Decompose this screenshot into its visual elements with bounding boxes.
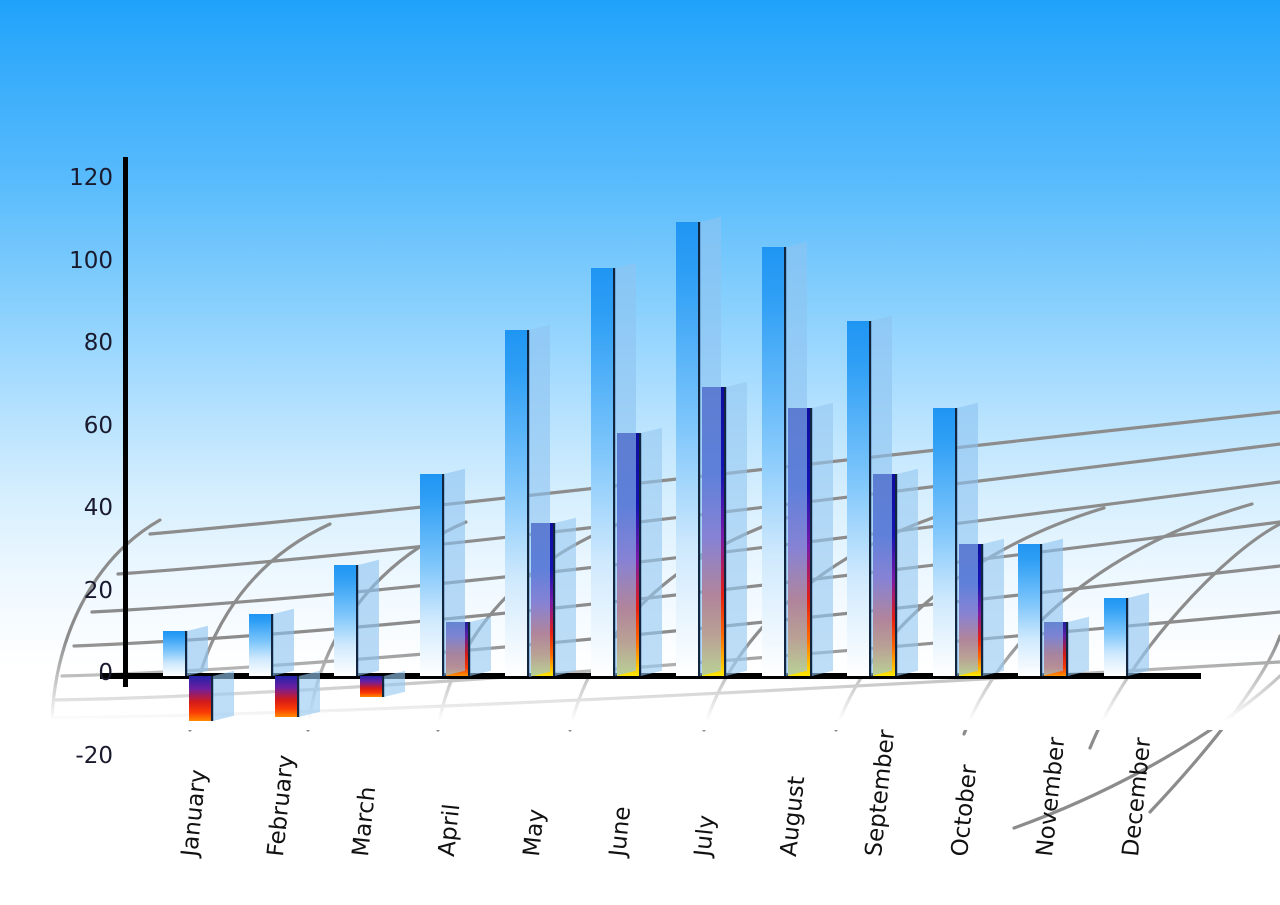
bar-series2[interactable] [360, 676, 384, 697]
x-category-label: July [690, 814, 720, 858]
bar-face [334, 565, 358, 676]
bar-depth-shadow [983, 539, 1004, 676]
bar-face [847, 321, 871, 676]
x-category-label: June [605, 805, 636, 858]
bar-series1[interactable] [933, 408, 957, 676]
x-category-label: January [177, 768, 212, 857]
bar-depth-shadow [726, 382, 747, 676]
bar-depth-shadow [444, 469, 465, 676]
bar-depth-shadow [641, 427, 662, 676]
y-tick: 80 [0, 330, 113, 356]
bar-depth-shadow [957, 403, 978, 676]
bar-depth-shadow [384, 671, 405, 697]
bar-depth-shadow [555, 518, 576, 676]
bar-face [275, 676, 299, 717]
bar-series1[interactable] [591, 268, 615, 676]
bar-face [762, 247, 786, 676]
y-axis [123, 157, 128, 687]
bar-series1[interactable] [249, 614, 273, 676]
y-tick: 20 [0, 578, 113, 604]
y-tick: 0 [0, 660, 113, 686]
bar-depth-shadow [299, 671, 320, 717]
bar-depth-shadow [786, 242, 807, 676]
x-category-label: November [1032, 736, 1070, 858]
bar-face [933, 408, 957, 676]
y-tick-label: 0 [0, 660, 113, 686]
y-tick: 40 [0, 495, 113, 521]
x-category-label: February [263, 754, 300, 858]
x-category-label: May [519, 808, 550, 858]
plot-area: 120100806040200-20 JanuaryFebruaryMarchA… [0, 0, 1280, 905]
x-category-label: August [776, 775, 810, 858]
bar-series1[interactable] [1018, 544, 1042, 676]
y-tick-label: 60 [0, 413, 113, 439]
y-tick: -20 [0, 743, 113, 769]
y-tick-label: 40 [0, 495, 113, 521]
bar-series1[interactable] [676, 222, 700, 676]
bar-series1[interactable] [420, 474, 444, 676]
x-category-label: December [1118, 736, 1156, 857]
bar-series2[interactable] [189, 676, 213, 721]
y-tick-label: 20 [0, 578, 113, 604]
bar-face [249, 614, 273, 676]
bar-series1[interactable] [1104, 598, 1128, 676]
bar-series1[interactable] [334, 565, 358, 676]
bar-depth-shadow [1068, 617, 1089, 676]
bar-face [1104, 598, 1128, 676]
y-tick-label: 100 [0, 248, 113, 274]
bar-series1[interactable] [163, 631, 187, 676]
bar-face [505, 330, 529, 677]
bar-face [676, 222, 700, 676]
bar-depth-shadow [812, 403, 833, 676]
chart-canvas: 120100806040200-20 JanuaryFebruaryMarchA… [0, 0, 1280, 905]
bar-depth-shadow [1042, 539, 1063, 676]
bar-series1[interactable] [762, 247, 786, 676]
y-tick: 120 [0, 165, 113, 191]
x-category-label: March [348, 785, 381, 857]
bar-face [591, 268, 615, 676]
bar-depth-shadow [187, 625, 208, 676]
bar-depth-shadow [871, 316, 892, 676]
bar-depth-shadow [470, 617, 491, 676]
bar-depth-shadow [358, 559, 379, 676]
bar-depth-shadow [273, 609, 294, 676]
bar-depth-shadow [897, 469, 918, 676]
bar-series1[interactable] [847, 321, 871, 676]
y-tick-label: 80 [0, 330, 113, 356]
bar-face [189, 676, 213, 721]
bar-depth-shadow [615, 262, 636, 676]
bar-face [163, 631, 187, 676]
bar-face [1018, 544, 1042, 676]
bar-depth-shadow [529, 324, 550, 676]
x-category-label: April [434, 803, 465, 858]
bar-face [360, 676, 384, 697]
y-tick: 60 [0, 413, 113, 439]
bar-face [420, 474, 444, 676]
bar-series1[interactable] [505, 330, 529, 677]
bar-depth-shadow [213, 671, 234, 722]
y-tick-label: 120 [0, 165, 113, 191]
bar-series2[interactable] [275, 676, 299, 717]
y-tick: 100 [0, 248, 113, 274]
bar-depth-shadow [700, 217, 721, 676]
y-tick-label: -20 [0, 743, 113, 769]
x-category-label: October [947, 763, 982, 857]
bar-depth-shadow [1128, 592, 1149, 676]
x-category-label: September [861, 729, 900, 858]
